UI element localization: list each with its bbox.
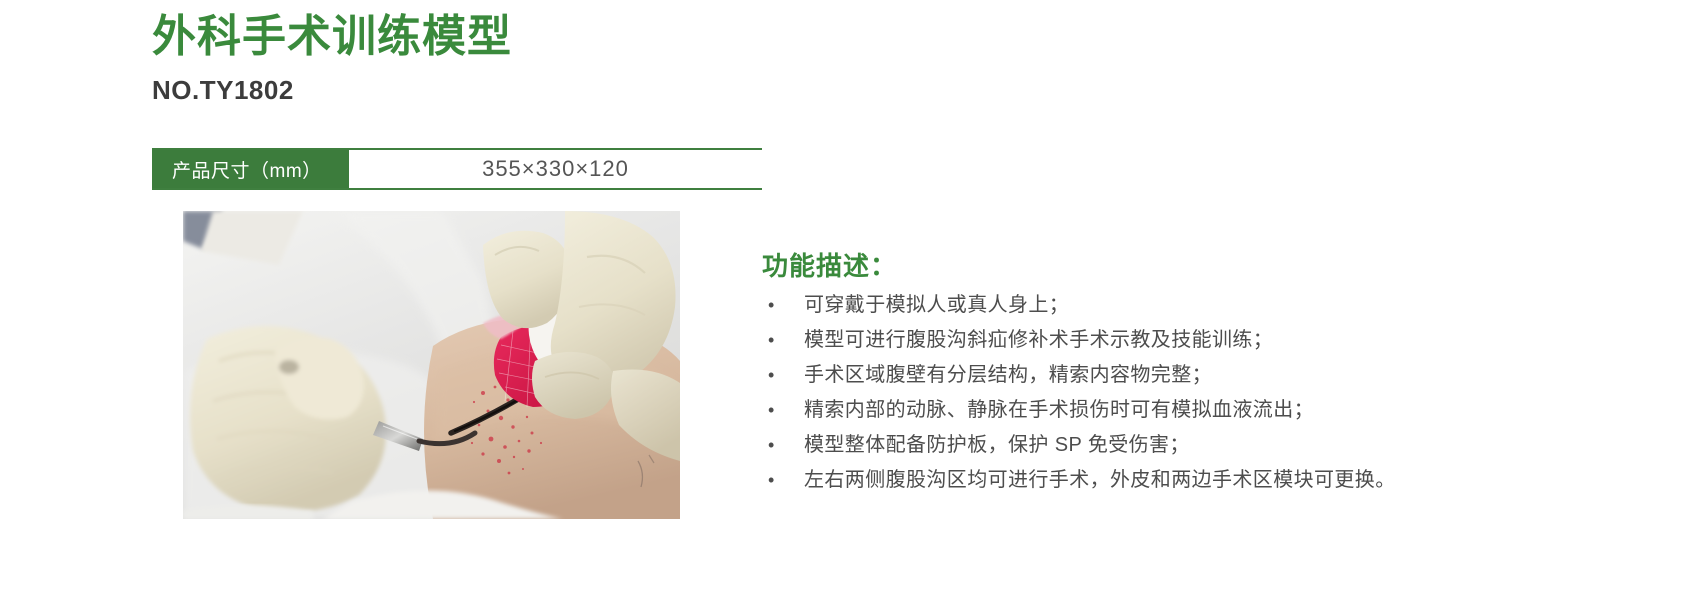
- bullet-icon: •: [762, 331, 804, 349]
- feature-list: • 可穿戴于模拟人或真人身上； • 模型可进行腹股沟斜疝修补术手术示教及技能训练…: [762, 295, 1582, 505]
- feature-text: 模型整体配备防护板，保护 SP 免受伤害；: [804, 435, 1582, 455]
- feature-text: 手术区域腹壁有分层结构，精索内容物完整；: [804, 365, 1582, 385]
- product-datasheet-page: 外科手术训练模型 NO.TY1802 产品尺寸（mm） 355×330×120: [0, 0, 1700, 612]
- feature-description-heading: 功能描述：: [762, 246, 1582, 283]
- list-item: • 可穿戴于模拟人或真人身上；: [762, 295, 1582, 330]
- table-bottom-rule: [152, 188, 762, 190]
- bullet-icon: •: [762, 471, 804, 489]
- spec-value-product-size: 355×330×120: [349, 150, 762, 188]
- feature-text: 可穿戴于模拟人或真人身上；: [804, 295, 1582, 315]
- bullet-icon: •: [762, 296, 804, 314]
- feature-text: 左右两侧腹股沟区均可进行手术，外皮和两边手术区模块可更换。: [804, 470, 1582, 490]
- list-item: • 精索内部的动脉、静脉在手术损伤时可有模拟血液流出；: [762, 400, 1582, 435]
- list-item: • 模型可进行腹股沟斜疝修补术手术示教及技能训练；: [762, 330, 1582, 365]
- feature-text: 精索内部的动脉、静脉在手术损伤时可有模拟血液流出；: [804, 400, 1582, 420]
- page-header: 外科手术训练模型 NO.TY1802: [152, 12, 1052, 106]
- bullet-icon: •: [762, 401, 804, 419]
- feature-text: 模型可进行腹股沟斜疝修补术手术示教及技能训练；: [804, 330, 1582, 350]
- product-code: NO.TY1802: [152, 75, 1052, 106]
- list-item: • 左右两侧腹股沟区均可进行手术，外皮和两边手术区模块可更换。: [762, 470, 1582, 505]
- bullet-icon: •: [762, 436, 804, 454]
- product-photo-illustration: [183, 211, 680, 519]
- feature-description-section: 功能描述： • 可穿戴于模拟人或真人身上； • 模型可进行腹股沟斜疝修补术手术示…: [762, 246, 1582, 505]
- specification-table: 产品尺寸（mm） 355×330×120: [152, 148, 762, 190]
- product-photo: [183, 211, 680, 519]
- bullet-icon: •: [762, 366, 804, 384]
- list-item: • 手术区域腹壁有分层结构，精索内容物完整；: [762, 365, 1582, 400]
- spec-label-product-size: 产品尺寸（mm）: [152, 150, 349, 188]
- table-row: 产品尺寸（mm） 355×330×120: [152, 150, 762, 188]
- page-title: 外科手术训练模型: [152, 12, 1052, 63]
- list-item: • 模型整体配备防护板，保护 SP 免受伤害；: [762, 435, 1582, 470]
